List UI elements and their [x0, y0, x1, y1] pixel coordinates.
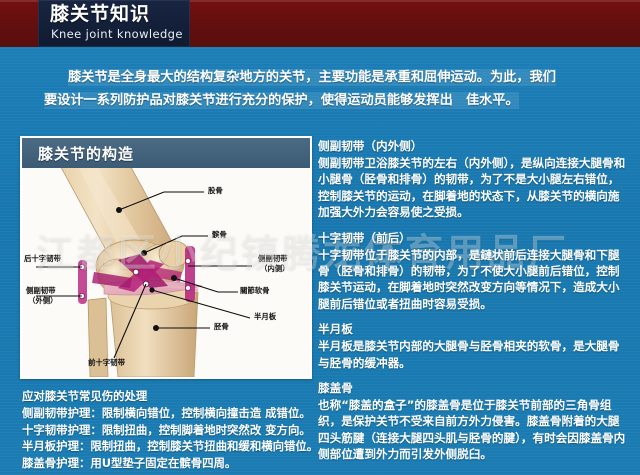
label-lcl: 侧副韧带	[26, 286, 56, 295]
care-item: 膝盖骨护理：用U型垫子固定在髌骨四周。	[22, 455, 322, 472]
label-meniscus: 半月板	[254, 312, 276, 321]
label-articular-cartilage: 關節软骨	[240, 286, 270, 295]
section-body: 也称“膝盖的盒子”的膝盖骨是位于膝关节前部的三角骨组织，是保护关节不受来自前方外…	[318, 397, 630, 463]
structure-panel-title: 膝关节的构造	[38, 143, 134, 164]
care-item: 十字韧带护理：限制扭曲，控制脚着地时突然改 变方向。	[22, 422, 322, 439]
info-sections: 侧副韧带（内外侧） 侧副韧带卫浴膝关节的左右（内外侧），是纵向连接大腿骨和小腿骨…	[318, 138, 630, 472]
section-body: 半月板是膝关节内部的大腿骨与胫骨相夹的软骨，是大腿骨与胫骨的缓冲器。	[318, 338, 630, 371]
label-lcl-sub: （外侧）	[28, 296, 58, 305]
page-title-en: Knee joint knowledge	[51, 27, 183, 41]
section-collateral-ligament: 侧副韧带（内外侧） 侧副韧带卫浴膝关节的左右（内外侧），是纵向连接大腿骨和小腿骨…	[318, 138, 630, 221]
intro-line-1: 膝关节是全身最大的结构复杂地方的关节，主要功能是承重和屈伸运动。为此，我们	[68, 69, 556, 86]
structure-panel: 膝关节的构造	[20, 136, 312, 379]
care-heading: 应对膝关节常见伤的处理	[22, 388, 322, 404]
section-heading: 半月板	[318, 321, 630, 337]
care-item: 半月板护理：限制扭曲，控制膝关节扭曲和缓和横向错位。	[22, 438, 322, 455]
page-title-cn: 膝关节知识	[50, 3, 150, 25]
intro-paragraph: 膝关节是全身最大的结构复杂地方的关节，主要功能是承重和屈伸运动。为此，我们 要设…	[44, 66, 600, 112]
section-meniscus: 半月板 半月板是膝关节内部的大腿骨与胫骨相夹的软骨，是大腿骨与胫骨的缓冲器。	[318, 321, 630, 371]
section-heading: 侧副韧带（内外侧）	[318, 138, 630, 154]
structure-panel-header: 膝关节的构造	[22, 138, 310, 168]
knee-anatomy-illustration: 股骨 髌骨 關節软骨 半月板 胫骨 侧副韧带 （内侧） 后十字韧带 侧副韧带 （…	[22, 168, 310, 377]
care-item: 侧副韧带护理：限制横向错位，控制横向撞击造 成错位。	[22, 405, 322, 422]
label-acl: 前十字韧带	[88, 358, 125, 367]
page-root: 膝关节知识 Knee joint knowledge 膝关节是全身最大的结构复杂…	[0, 0, 640, 475]
label-tibia: 胫骨	[214, 322, 229, 331]
title-box: 膝关节知识 Knee joint knowledge	[38, 0, 190, 47]
section-cruciate-ligament: 十字韧带（前后） 十字韧带位于膝关节的内部，是鏈状前后连接大腿骨和下腿骨（胫骨和…	[318, 230, 630, 313]
label-mcl: 侧副韧带	[258, 254, 288, 263]
label-patella: 髌骨	[212, 230, 227, 239]
section-patella: 膝盖骨 也称“膝盖的盒子”的膝盖骨是位于膝关节前部的三角骨组织，是保护关节不受来…	[318, 380, 630, 463]
section-body: 侧副韧带卫浴膝关节的左右（内外侧），是纵向连接大腿骨和小腿骨（胫骨和排骨）的韧带…	[318, 155, 630, 221]
label-femur: 股骨	[208, 186, 223, 195]
structure-panel-body: 股骨 髌骨 關節软骨 半月板 胫骨 侧副韧带 （内侧） 后十字韧带 侧副韧带 （…	[22, 168, 310, 377]
care-instructions: 应对膝关节常见伤的处理 侧副韧带护理：限制横向错位，控制横向撞击造 成错位。 十…	[22, 388, 322, 471]
label-pcl: 后十字韧带	[24, 254, 61, 263]
intro-line-2: 要设计一系列防护品对膝关节进行充分的保护，使得运动员能够发挥出 佳水平。	[44, 92, 519, 109]
section-heading: 膝盖骨	[318, 380, 630, 396]
label-mcl-sub: （内侧）	[260, 264, 290, 273]
section-body: 十字韧带位于膝关节的内部，是鏈状前后连接大腿骨和下腿骨（胫骨和排骨）的韧带，为了…	[318, 247, 630, 313]
section-heading: 十字韧带（前后）	[318, 230, 630, 246]
